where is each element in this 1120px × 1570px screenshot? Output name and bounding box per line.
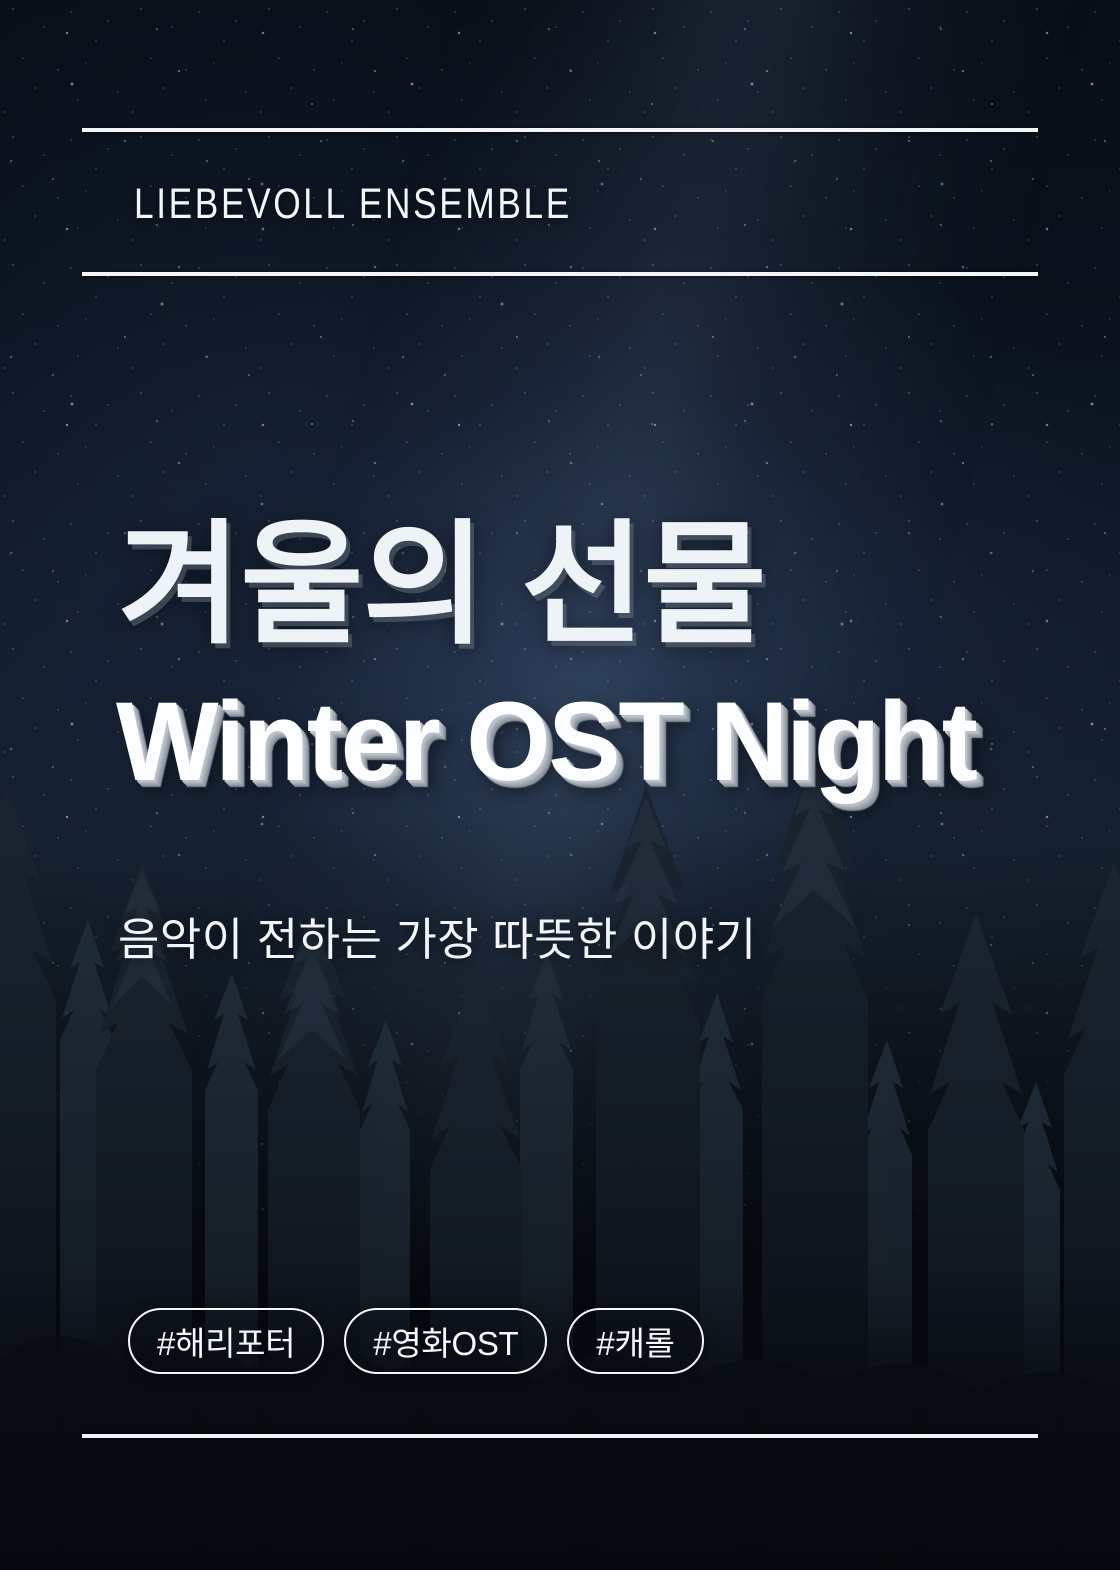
hashtag-pill[interactable]: #해리포터 xyxy=(128,1308,324,1374)
hashtag-pill[interactable]: #영화OST xyxy=(344,1308,547,1374)
hashtag-list: #해리포터 #영화OST #캐롤 xyxy=(128,1308,704,1374)
poster-canvas: LIEBEVOLL ENSEMBLE 겨울의 선물 Winter OST Nig… xyxy=(0,0,1120,1570)
divider-line-bottom xyxy=(82,1434,1038,1438)
divider-line-top xyxy=(82,128,1038,132)
poster-title-english: Winter OST Night xyxy=(116,686,975,798)
ensemble-name: LIEBEVOLL ENSEMBLE xyxy=(134,180,572,229)
poster-content: LIEBEVOLL ENSEMBLE 겨울의 선물 Winter OST Nig… xyxy=(0,0,1120,1570)
poster-subtitle: 음악이 전하는 가장 따뜻한 이야기 xyxy=(118,903,757,968)
hashtag-pill[interactable]: #캐롤 xyxy=(567,1308,703,1374)
poster-title-korean: 겨울의 선물 xyxy=(118,519,766,653)
divider-line-middle xyxy=(82,272,1038,276)
